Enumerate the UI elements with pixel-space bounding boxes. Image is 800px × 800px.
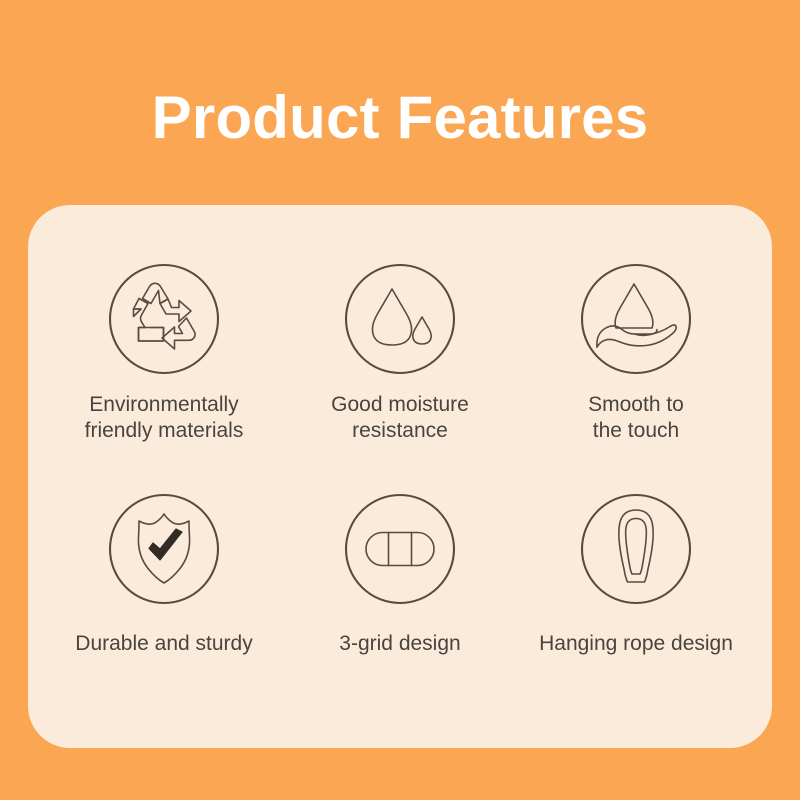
feature-label: Environmentally friendly materials <box>85 392 244 443</box>
feature-item-moisture-resistance: Good moisture resistance <box>282 263 518 443</box>
feature-label: Hanging rope design <box>539 631 733 657</box>
feature-label: 3-grid design <box>339 631 460 657</box>
feature-item-hanging-rope-design: Hanging rope design <box>518 491 754 657</box>
page-title: Product Features <box>0 86 800 149</box>
feature-item-durable-sturdy: Durable and sturdy <box>46 491 282 657</box>
hanging-rope-loop-icon <box>580 493 692 605</box>
shield-check-icon <box>108 493 220 605</box>
hand-holding-droplet-icon <box>580 263 692 375</box>
feature-card: Environmentally friendly materials Good … <box>28 205 772 748</box>
feature-item-environmentally-friendly: Environmentally friendly materials <box>46 263 282 443</box>
feature-item-smooth-touch: Smooth to the touch <box>518 263 754 443</box>
three-grid-capsule-icon <box>344 493 456 605</box>
recycling-icon <box>108 263 220 375</box>
product-features-poster: Product Features Environmentally frie <box>0 0 800 800</box>
feature-label: Durable and sturdy <box>75 631 252 657</box>
feature-item-three-grid-design: 3-grid design <box>282 491 518 657</box>
feature-grid: Environmentally friendly materials Good … <box>28 205 772 748</box>
feature-label: Good moisture resistance <box>331 392 469 443</box>
feature-label: Smooth to the touch <box>588 392 684 443</box>
water-droplets-icon <box>344 263 456 375</box>
